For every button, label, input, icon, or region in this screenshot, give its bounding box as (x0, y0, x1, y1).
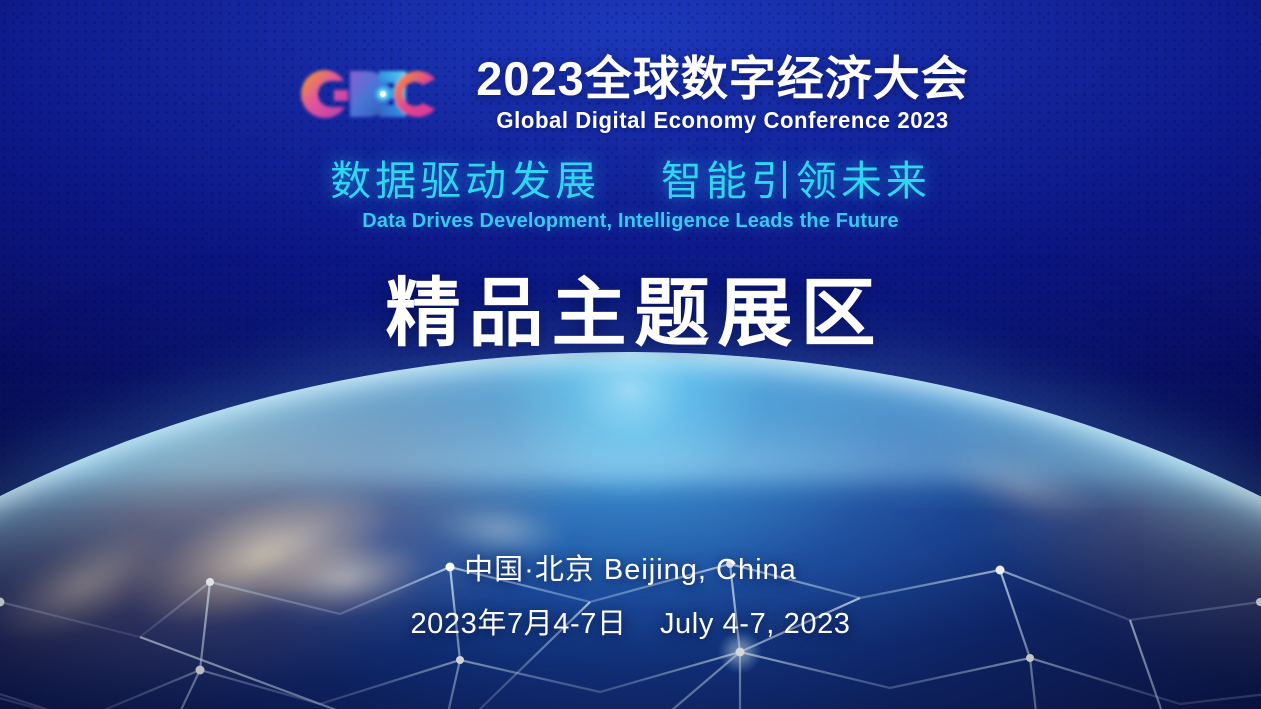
slogan-english: Data Drives Development, Intelligence Le… (19, 209, 1242, 233)
event-details: 中国·北京 Beijing, China 2023年7月4-7日 July 4-… (0, 546, 1261, 642)
conference-title-english: Global Digital Economy Conference 2023 (496, 107, 948, 134)
slogan-chinese: 数据驱动发展 智能引领未来 (0, 158, 1261, 205)
conference-poster: 2023全球数字经济大会 Global Digital Economy Conf… (0, 0, 1261, 709)
slogan-chinese-part1: 数据驱动发展 (330, 158, 600, 204)
poster-header: 2023全球数字经济大会 Global Digital Economy Conf… (0, 54, 1261, 134)
gdec-logo-icon (292, 59, 452, 129)
page-title: 精品主题展区 (0, 273, 1261, 354)
slogan-chinese-part2: 智能引领未来 (661, 158, 931, 204)
poster-content: 2023全球数字经济大会 Global Digital Economy Conf… (0, 0, 1261, 709)
conference-title-chinese: 2023全球数字经济大会 (476, 54, 969, 105)
conference-title-block: 2023全球数字经济大会 Global Digital Economy Conf… (476, 54, 969, 134)
event-date-english: July 4-7, 2023 (660, 608, 851, 640)
event-location: 中国·北京 Beijing, China (0, 546, 1261, 588)
event-date-chinese: 2023年7月4-7日 (410, 608, 626, 640)
conference-slogan: 数据驱动发展 智能引领未来 Data Drives Development, I… (0, 158, 1261, 233)
event-date: 2023年7月4-7日 July 4-7, 2023 (0, 600, 1261, 642)
